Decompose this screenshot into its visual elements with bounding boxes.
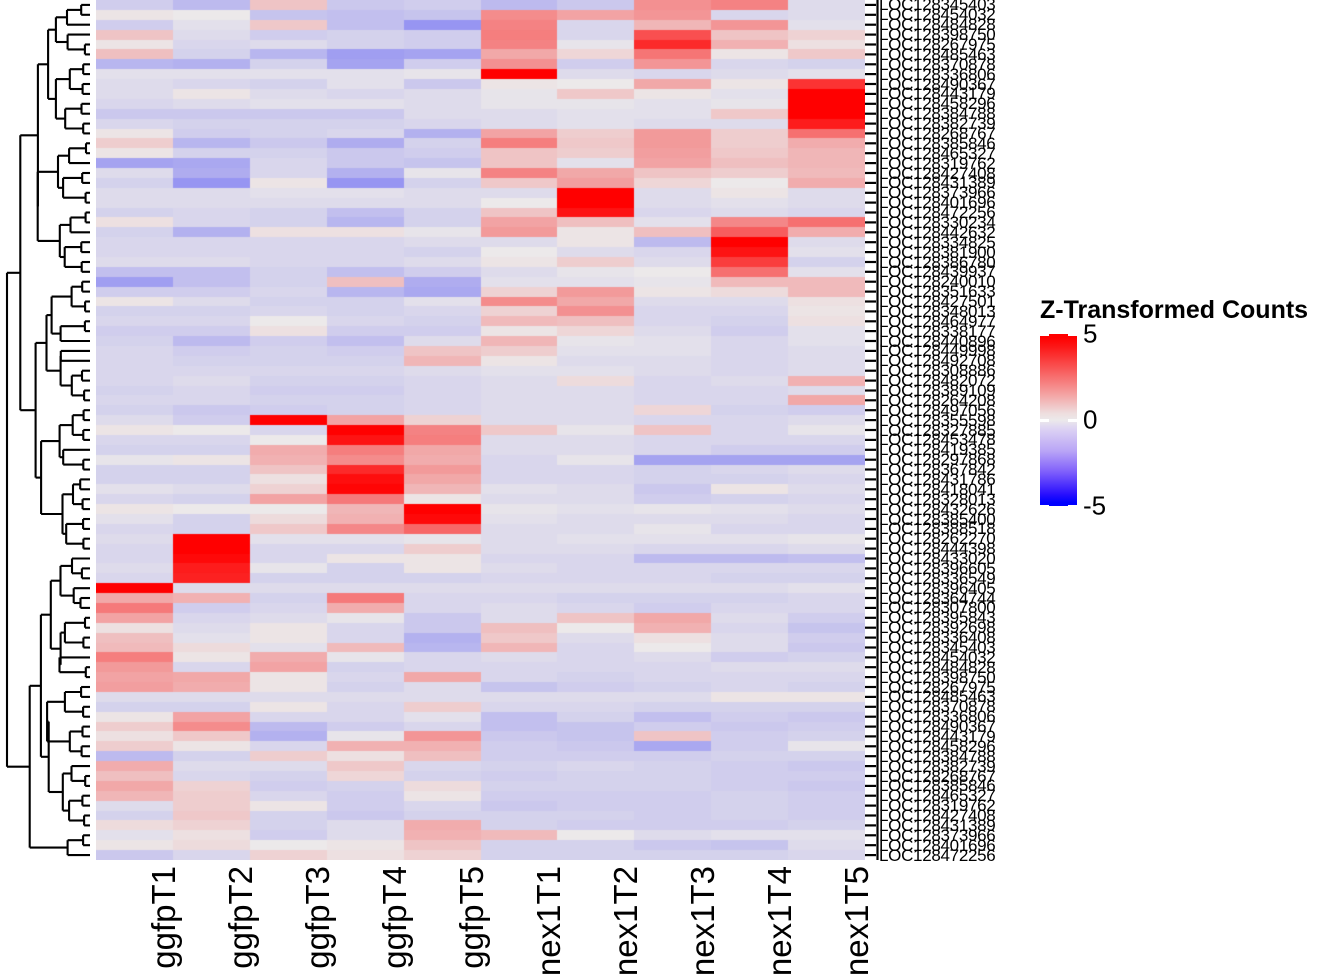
legend-title: Z-Transformed Counts [1040,296,1308,325]
row-label: LOC128472256 [879,847,995,864]
column-label-slot: ggfpT3 [250,860,327,960]
legend-tick-label: -5 [1083,491,1106,522]
legend-tick-mark [1040,505,1049,508]
column-label-slot: nex1T4 [711,860,788,960]
legend-tick-label: 0 [1083,405,1097,436]
heatmap-canvas[interactable] [96,0,865,860]
column-label-slot: ggfpT2 [173,860,250,960]
heatmap-body[interactable] [96,0,865,860]
row-tick-marks [865,0,879,860]
column-label-slot: nex1T3 [634,860,711,960]
column-label-slot: ggfpT5 [404,860,481,960]
legend-tick-mark [1040,333,1049,336]
column-label-slot: ggfpT4 [327,860,404,960]
row-dendrogram-svg [0,0,96,860]
legend-tick-mark [1068,333,1077,336]
row-dendrogram [0,0,96,860]
column-label-slot: nex1T5 [788,860,865,960]
column-label-slot: ggfpT1 [96,860,173,960]
legend-tick-label: 5 [1083,319,1097,350]
legend: Z-Transformed Counts 50-5 [1038,296,1338,526]
heatmap-figure: LOC128345403LOC128454032LOC128484828LOC1… [0,0,1344,960]
row-ticks-svg [865,0,879,860]
legend-tick-mark [1068,505,1077,508]
column-label-slot: nex1T1 [481,860,558,960]
column-labels: ggfpT1ggfpT2ggfpT3ggfpT4ggfpT5nex1T1nex1… [96,860,865,960]
legend-tick-mark [1068,419,1077,422]
row-labels: LOC128345403LOC128454032LOC128484828LOC1… [879,0,1029,864]
column-label-slot: nex1T2 [557,860,634,960]
legend-tick-mark [1040,419,1049,422]
